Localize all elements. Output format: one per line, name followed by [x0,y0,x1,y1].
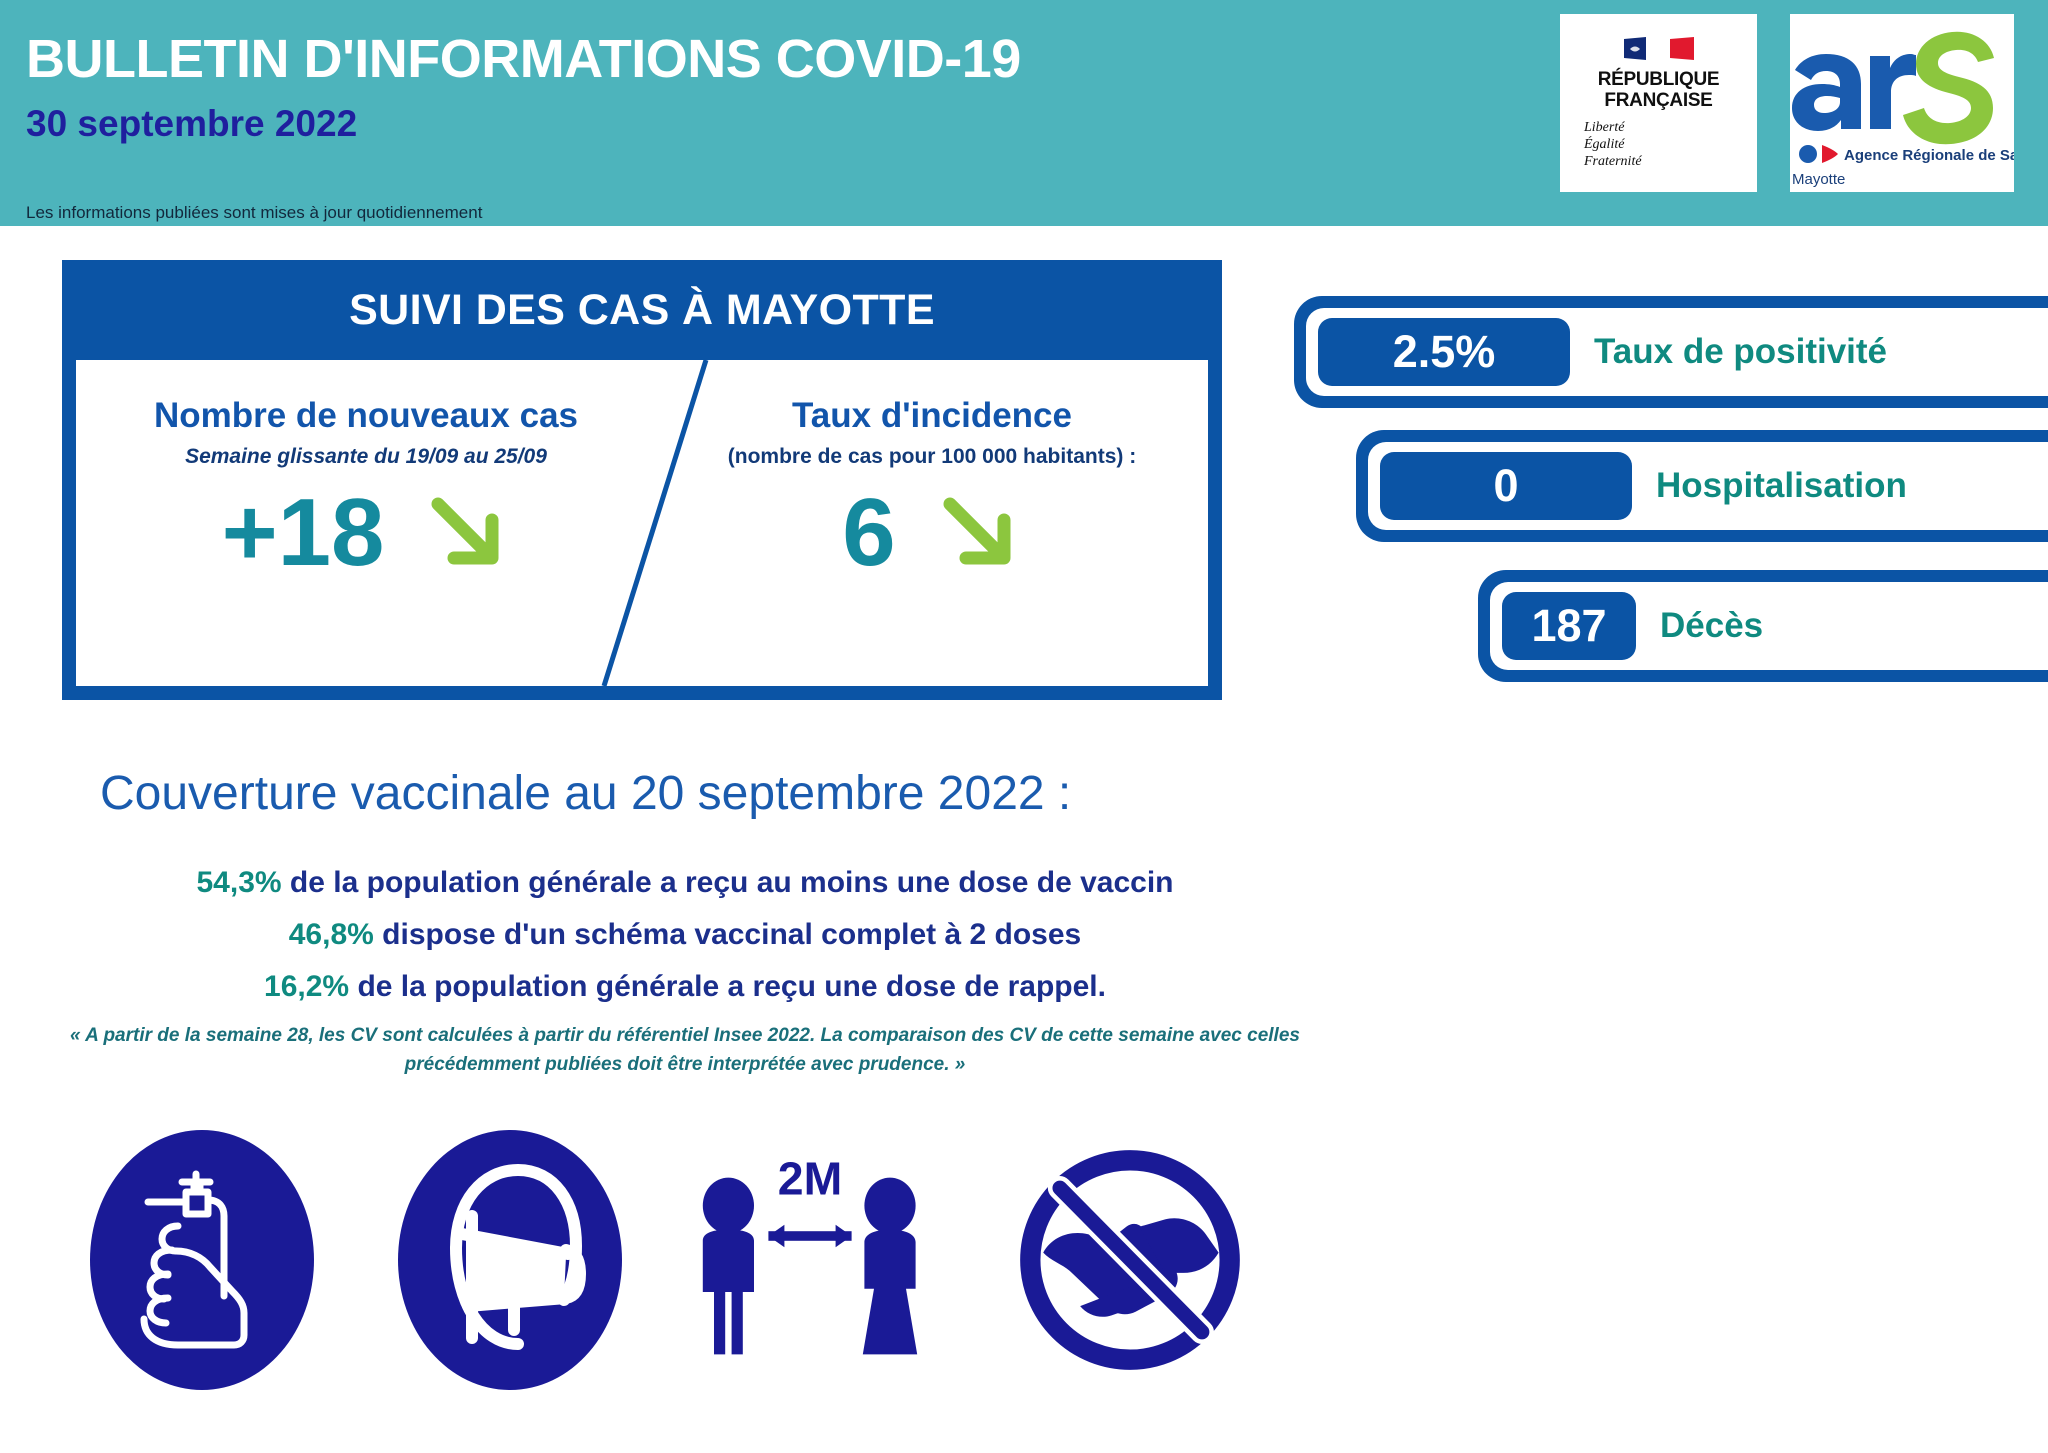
stat-label-positivity: Taux de positivité [1594,318,1887,386]
vaccination-line: 46,8% dispose d'un schéma vaccinal compl… [40,918,1330,952]
vaccination-line: 54,3% de la population générale a reçu a… [40,866,1330,900]
stat-pill-hospitalisation: 0 Hospitalisation [1356,430,2048,542]
social-distance-icon: 2M [690,1120,930,1400]
arrow-down-right-icon [936,490,1022,576]
prevention-pictograms: 2M [60,1120,1300,1400]
vaccination-text: dispose d'un schéma vaccinal complet à 2… [374,918,1081,951]
vaccination-text: de la population générale a reçu une dos… [349,970,1106,1003]
ars-region-text: Mayotte [1792,171,1845,188]
french-flag-icon [1622,36,1696,62]
ars-logo-icon: Agence Régionale de Santé Mayotte [1790,14,2014,192]
new-cases-heading: Nombre de nouveaux cas [76,396,656,436]
motto-fraternite: Fraternité [1584,153,1757,170]
bulletin-date: 30 septembre 2022 [26,103,357,145]
new-cases-column: Nombre de nouveaux cas Semaine glissante… [76,360,656,686]
cases-panel-title: SUIVI DES CAS À MAYOTTE [62,260,1222,360]
vaccination-percent: 16,2% [264,970,349,1003]
vaccination-percent: 46,8% [289,918,374,951]
motto-liberte: Liberté [1584,119,1757,136]
incidence-rate-subtitle: (nombre de cas pour 100 000 habitants) : [656,445,1208,469]
page-title: BULLETIN D'INFORMATIONS COVID-19 [26,28,1021,90]
incidence-rate-column: Taux d'incidence (nombre de cas pour 100… [656,360,1208,686]
stat-pill-positivity: 2.5% Taux de positivité [1294,296,2048,408]
header-band: BULLETIN D'INFORMATIONS COVID-19 30 sept… [0,0,2048,226]
vaccination-footnote: « A partir de la semaine 28, les CV sont… [40,1022,1330,1079]
distance-label: 2M [778,1152,842,1204]
vaccination-heading: Couverture vaccinale au 20 septembre 202… [100,766,1071,821]
vaccination-percent: 54,3% [197,866,282,899]
stat-value-deces: 187 [1502,592,1636,660]
stat-value-hospitalisation: 0 [1380,452,1632,520]
vaccination-text: de la population générale a reçu au moin… [282,866,1174,899]
republique-line-1: RÉPUBLIQUE [1560,70,1757,91]
republique-francaise-logo: RÉPUBLIQUE FRANÇAISE Liberté Égalité Fra… [1560,14,1757,192]
stat-pill-deces: 187 Décès [1478,570,2048,682]
vaccination-lines: 54,3% de la population générale a reçu a… [40,866,1330,1022]
new-cases-value: +18 [222,485,385,581]
new-cases-subtitle: Semaine glissante du 19/09 au 25/09 [76,445,656,469]
ars-mayotte-logo: Agence Régionale de Santé Mayotte [1790,14,2014,192]
cases-panel-body: Nombre de nouveaux cas Semaine glissante… [76,360,1208,686]
arrow-down-right-icon [424,490,510,576]
motto-egalite: Égalité [1584,136,1757,153]
update-note: Les informations publiées sont mises à j… [26,203,482,223]
vaccination-line: 16,2% de la population générale a reçu u… [40,970,1330,1004]
cases-tracking-panel: SUIVI DES CAS À MAYOTTE Nombre de nouvea… [62,260,1222,700]
stat-label-deces: Décès [1660,592,1763,660]
stat-label-hospitalisation: Hospitalisation [1656,452,1907,520]
incidence-rate-heading: Taux d'incidence [656,396,1208,436]
ars-tagline-text: Agence Régionale de Santé [1844,147,2014,164]
stat-value-positivity: 2.5% [1318,318,1570,386]
republique-line-2: FRANÇAISE [1560,91,1757,112]
incidence-rate-value: 6 [842,485,895,581]
no-handshake-icon [1010,1120,1250,1400]
wash-hands-icon [82,1120,322,1400]
wear-mask-icon [390,1120,630,1400]
